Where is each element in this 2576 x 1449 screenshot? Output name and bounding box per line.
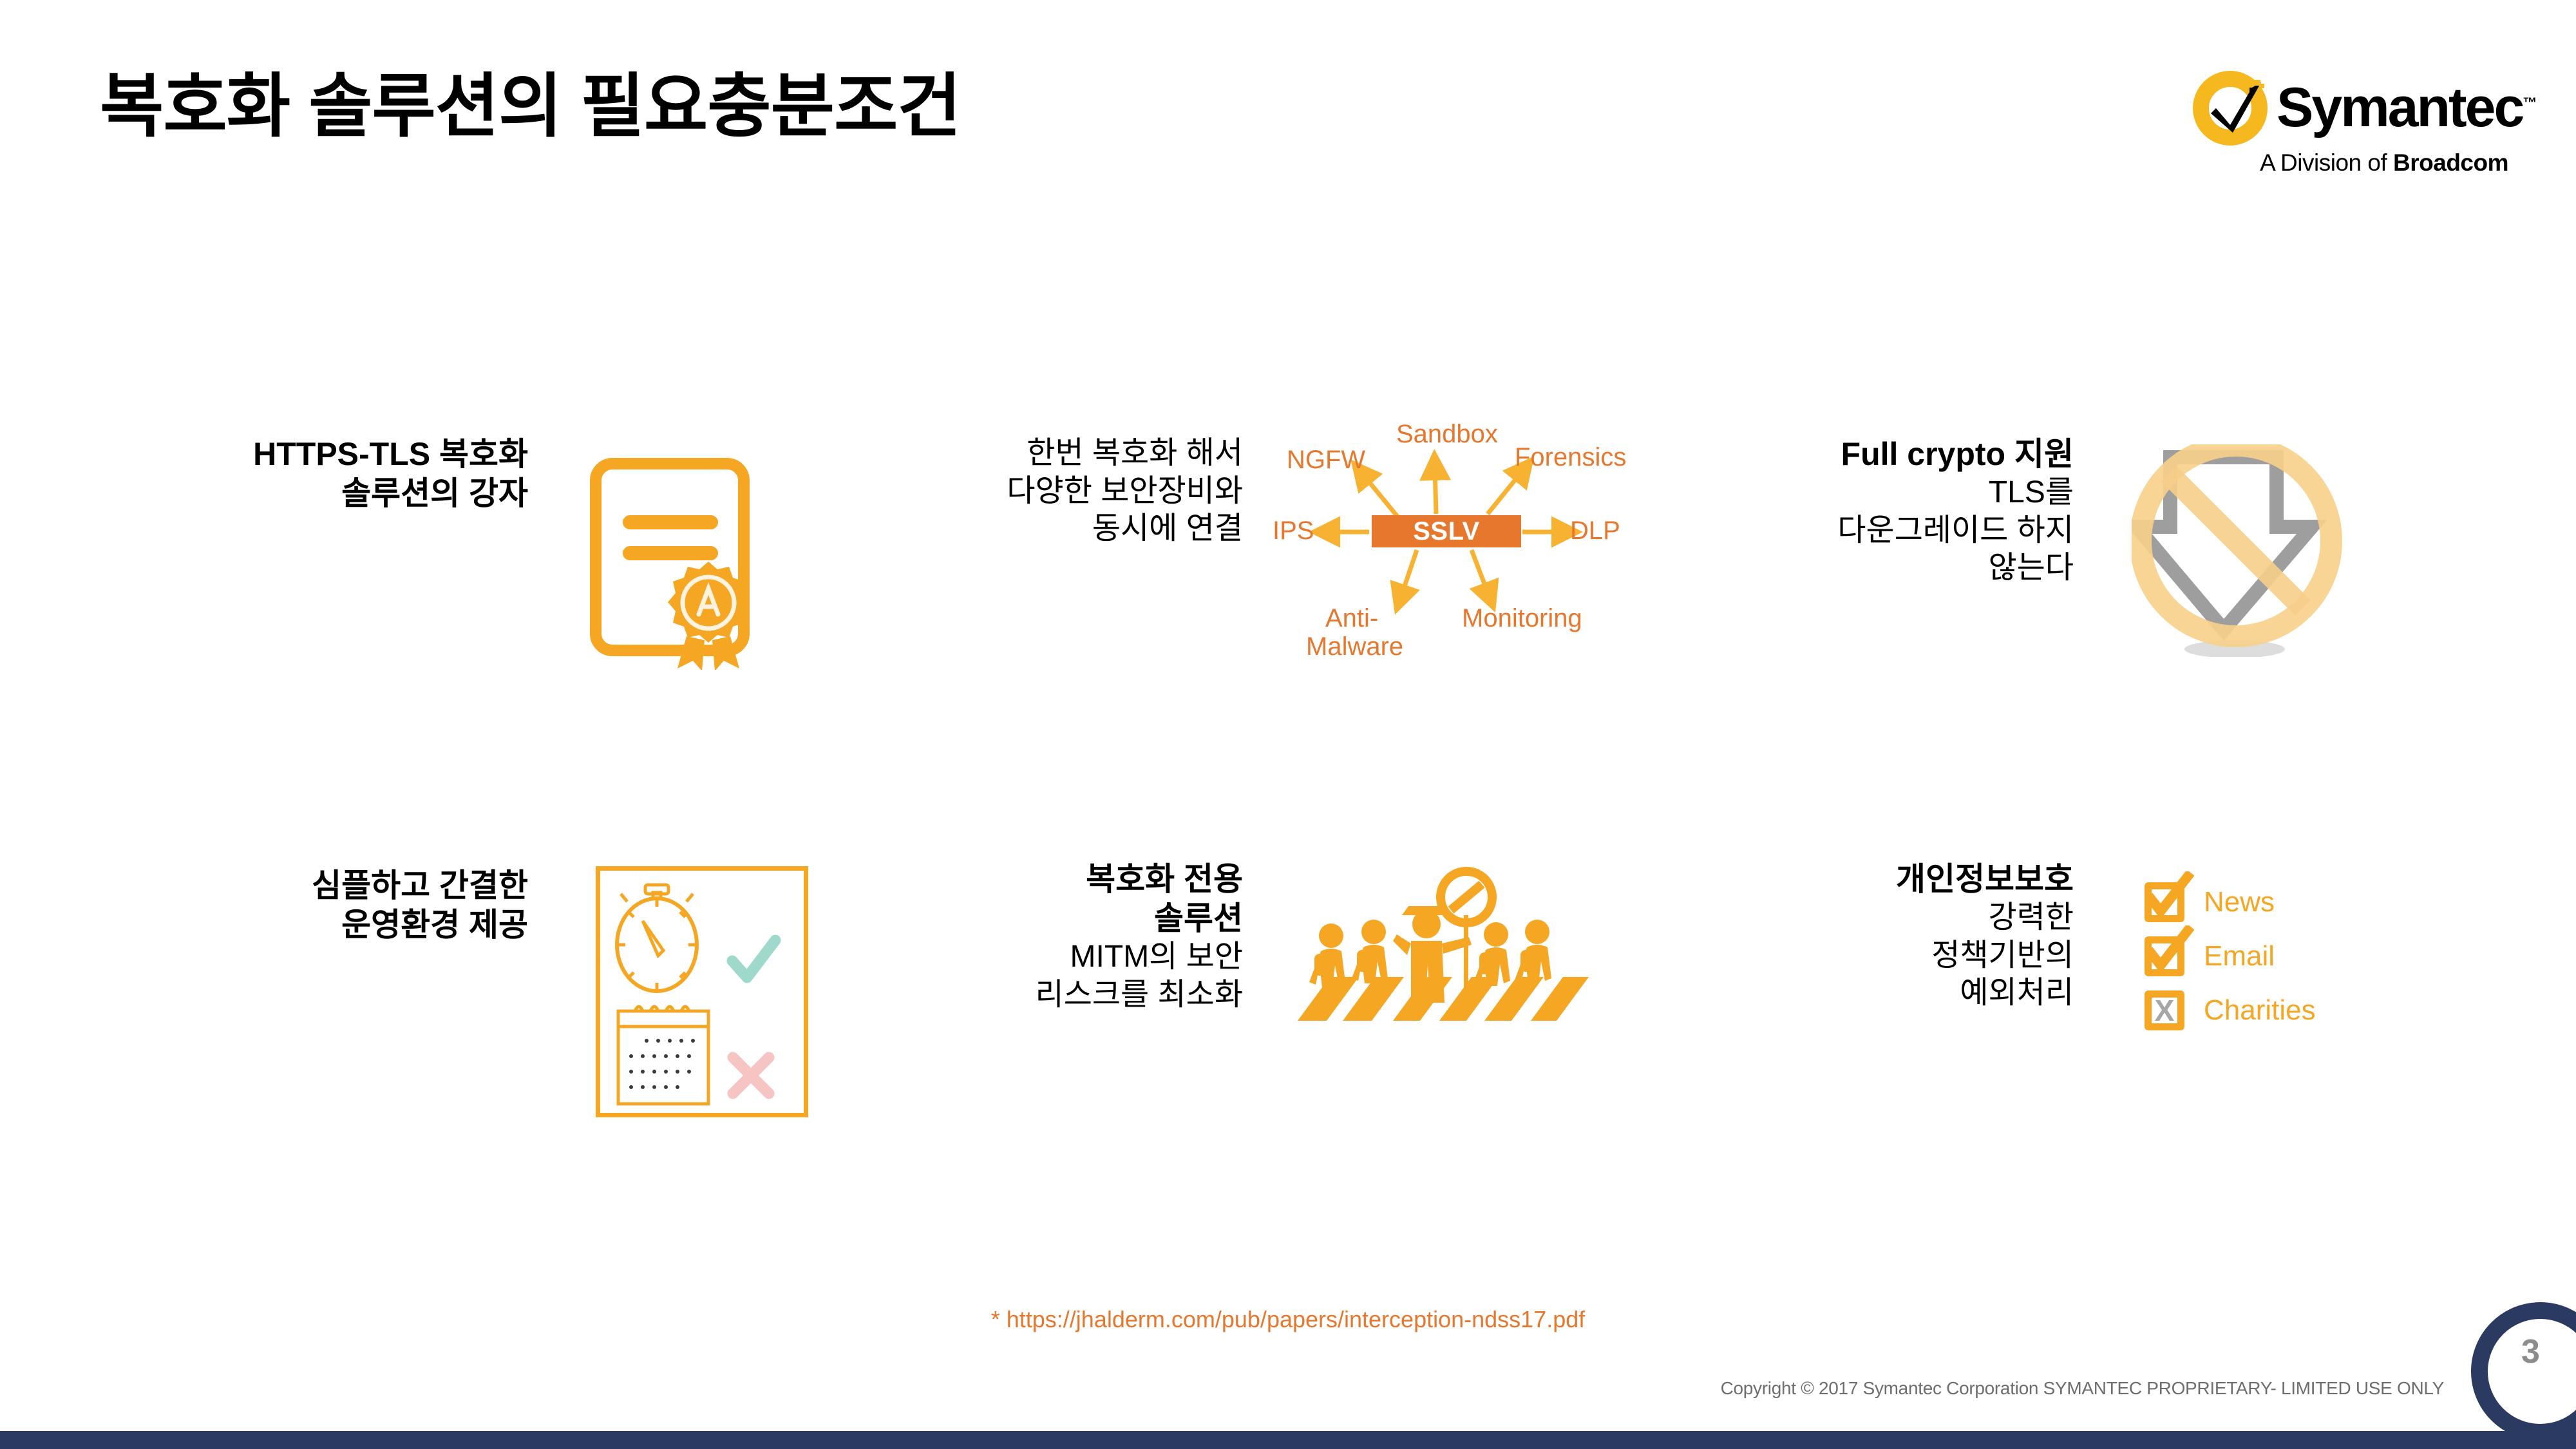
panel-full-crypto-line1: TLS를 [1610, 474, 2074, 512]
logo-wordmark: Symantec [2277, 77, 2523, 138]
exception-policy-checklist: News Email X Charities [2145, 882, 2338, 1030]
no-downgrade-icon [2132, 444, 2344, 660]
panel-full-crypto-head: Full crypto 지원 [1610, 435, 2074, 474]
ops-comparison-box [596, 866, 808, 1117]
bottom-accent-bar [0, 1431, 2576, 1449]
panel-https-tls-text: HTTPS-TLS 복호화 솔루션의 강자 [116, 435, 528, 513]
panel-dedicated-solution-line1: MITM의 보안 [902, 938, 1243, 976]
panel-privacy-head: 개인정보보호 [1649, 860, 2074, 899]
panel-simple-ops-head-line1: 심플하고 간결한 [129, 866, 528, 905]
panel-multi-device-line1: 한번 복호화 해서 [869, 435, 1243, 473]
logo-tagline-prefix: A Division of [2260, 149, 2393, 176]
footnote-url[interactable]: * https://jhalderm.com/pub/papers/interc… [0, 1306, 2576, 1333]
trademark-symbol: ™ [2523, 95, 2537, 111]
symantec-logo: Symantec™ A Division of Broadcom [2193, 71, 2508, 190]
sslv-spoke-anti-malware-line2: Malware [1306, 632, 1403, 661]
sslv-hub-box: SSLV [1372, 515, 1521, 547]
panel-dedicated-solution-text: 복호화 전용 솔루션 MITM의 보안 리스크를 최소화 [902, 860, 1243, 1014]
panel-multi-device-text: 한번 복호화 해서 다양한 보안장비와 동시에 연결 [869, 435, 1243, 548]
logo-tagline-brand: Broadcom [2393, 149, 2508, 176]
panel-https-tls-head-line2: 솔루션의 강자 [116, 474, 528, 513]
checklist-item-email: Email [2145, 936, 2338, 976]
checkbox-checked-icon [2145, 882, 2184, 922]
logo-tagline: A Division of Broadcom [2193, 149, 2508, 176]
checklist-label-news: News [2204, 886, 2275, 918]
sslv-spoke-ngfw: NGFW [1287, 446, 1365, 475]
panel-full-crypto-line3: 않는다 [1610, 549, 2074, 587]
page-number: 3 [2521, 1332, 2540, 1371]
panel-privacy-line1: 강력한 [1649, 899, 2074, 937]
sslv-spoke-sandbox: Sandbox [1396, 420, 1498, 449]
checklist-label-email: Email [2204, 940, 2275, 972]
panel-privacy-line2: 정책기반의 [1649, 937, 2074, 975]
panel-multi-device-line2: 다양한 보안장비와 [869, 473, 1243, 511]
checklist-icon: News Email X Charities [2145, 882, 2338, 1045]
panel-full-crypto-text: Full crypto 지원 TLS를 다운그레이드 하지 않는다 [1610, 435, 2074, 587]
sslv-spoke-monitoring: Monitoring [1462, 604, 1582, 633]
checkbox-x-glyph: X [2152, 998, 2177, 1023]
stopwatch-calendar-icon [596, 866, 808, 1117]
panel-privacy-line3: 예외처리 [1649, 974, 2074, 1012]
panel-dedicated-solution-head-line2: 솔루션 [902, 899, 1243, 938]
page-title: 복호화 솔루션의 필요충분조건 [100, 50, 961, 151]
certificate-icon [583, 451, 776, 673]
crossing-guard-icon [1291, 860, 1594, 1056]
checklist-label-charities: Charities [2204, 994, 2316, 1027]
copyright-notice: Copyright © 2017 Symantec Corporation SY… [1721, 1378, 2444, 1399]
panel-simple-ops-text: 심플하고 간결한 운영환경 제공 [129, 866, 528, 945]
panel-dedicated-solution-line2: 리스크를 최소화 [902, 976, 1243, 1014]
panel-privacy-text: 개인정보보호 강력한 정책기반의 예외처리 [1649, 860, 2074, 1012]
checkbox-excluded-icon: X [2145, 990, 2184, 1030]
panel-https-tls-head-line1: HTTPS-TLS 복호화 [116, 435, 528, 474]
checkbox-checked-icon [2145, 936, 2184, 976]
sslv-spoke-ips: IPS [1273, 516, 1314, 545]
checklist-item-charities: X Charities [2145, 990, 2338, 1030]
symantec-checkmark-icon [2193, 71, 2268, 146]
sslv-spoke-anti-malware-line1: Anti- [1325, 604, 1378, 633]
panel-full-crypto-line2: 다운그레이드 하지 [1610, 512, 2074, 550]
panel-dedicated-solution-head-line1: 복호화 전용 [902, 860, 1243, 899]
checklist-item-news: News [2145, 882, 2338, 922]
panel-multi-device-line3: 동시에 연결 [869, 510, 1243, 548]
panel-simple-ops-head-line2: 운영환경 제공 [129, 905, 528, 945]
